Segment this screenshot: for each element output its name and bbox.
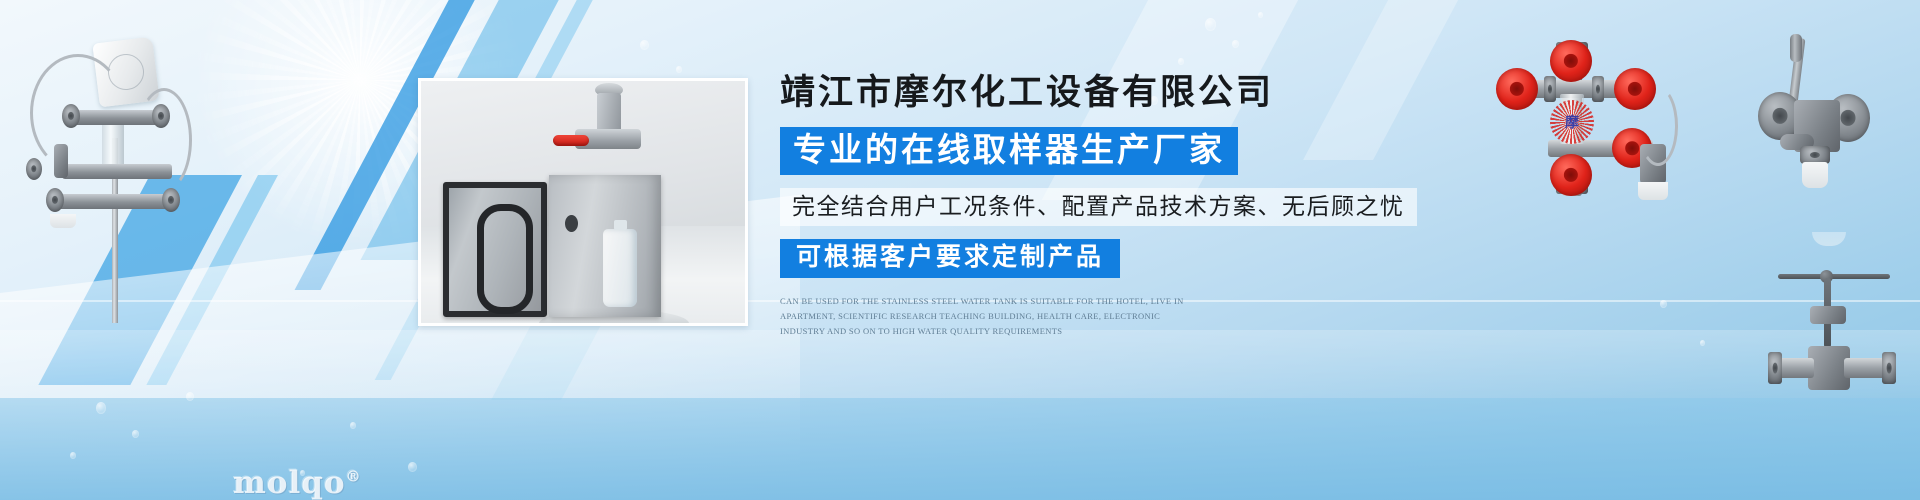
subheadline: 完全结合用户工况条件、配置产品技术方案、无后顾之忧 bbox=[780, 188, 1417, 225]
company-seal-stamp: 摩 bbox=[1550, 100, 1594, 144]
sampling-valve-head bbox=[571, 89, 645, 175]
hose-loop-right bbox=[136, 88, 192, 192]
flange bbox=[26, 158, 42, 180]
tagline-badge: 可根据客户要求定制产品 bbox=[780, 239, 1120, 279]
company-name: 靖江市摩尔化工设备有限公司 bbox=[780, 74, 1400, 113]
pipe-end-right bbox=[1882, 352, 1896, 384]
watermark-text: molqo bbox=[233, 465, 346, 500]
product-cross-sampler: 摩 bbox=[1488, 36, 1713, 206]
photo-content bbox=[421, 81, 745, 323]
relief-valve bbox=[54, 144, 68, 178]
sample-bottle bbox=[603, 229, 637, 307]
product-needle-valve bbox=[1778, 250, 1908, 400]
red-handwheel-left bbox=[1496, 68, 1538, 110]
sample-cup bbox=[50, 214, 76, 228]
pipe-end-left bbox=[1768, 352, 1782, 384]
valve-manifold-bottom bbox=[50, 194, 174, 209]
flange bbox=[46, 188, 64, 212]
flange bbox=[1592, 76, 1604, 102]
registered-mark: ® bbox=[346, 468, 362, 486]
english-description: CAN BE USED FOR THE STAINLESS STEEL WATE… bbox=[780, 294, 1200, 339]
brand-watermark: molqo® bbox=[233, 465, 362, 500]
product-flanged-lever-valve bbox=[1750, 22, 1910, 207]
red-handwheel-bottom bbox=[1550, 154, 1592, 196]
product-pole-mounted-sampling-station bbox=[10, 18, 195, 308]
red-valve-handle bbox=[553, 135, 589, 146]
sample-cup bbox=[1638, 182, 1668, 200]
lever-grip bbox=[1790, 34, 1802, 62]
product-photo-cabinet-sampler bbox=[418, 78, 748, 326]
banner-text-block: 靖江市摩尔化工设备有限公司 专业的在线取样器生产厂家 完全结合用户工况条件、配置… bbox=[780, 74, 1400, 339]
red-handwheel-top bbox=[1550, 40, 1592, 82]
hose-loop-left bbox=[30, 54, 126, 172]
t-handle-bar bbox=[1778, 274, 1890, 279]
product-banner: 靖江市摩尔化工设备有限公司 专业的在线取样器生产厂家 完全结合用户工况条件、配置… bbox=[0, 0, 1920, 500]
sample-hose bbox=[1638, 86, 1678, 166]
cabinet-door bbox=[443, 182, 547, 317]
cabinet-body bbox=[549, 175, 661, 317]
headline-badge: 专业的在线取样器生产厂家 bbox=[780, 127, 1238, 176]
sample-cup bbox=[1802, 162, 1828, 188]
packing-nut bbox=[1810, 306, 1846, 324]
flange bbox=[1544, 76, 1556, 102]
seal-character: 摩 bbox=[1565, 112, 1579, 132]
